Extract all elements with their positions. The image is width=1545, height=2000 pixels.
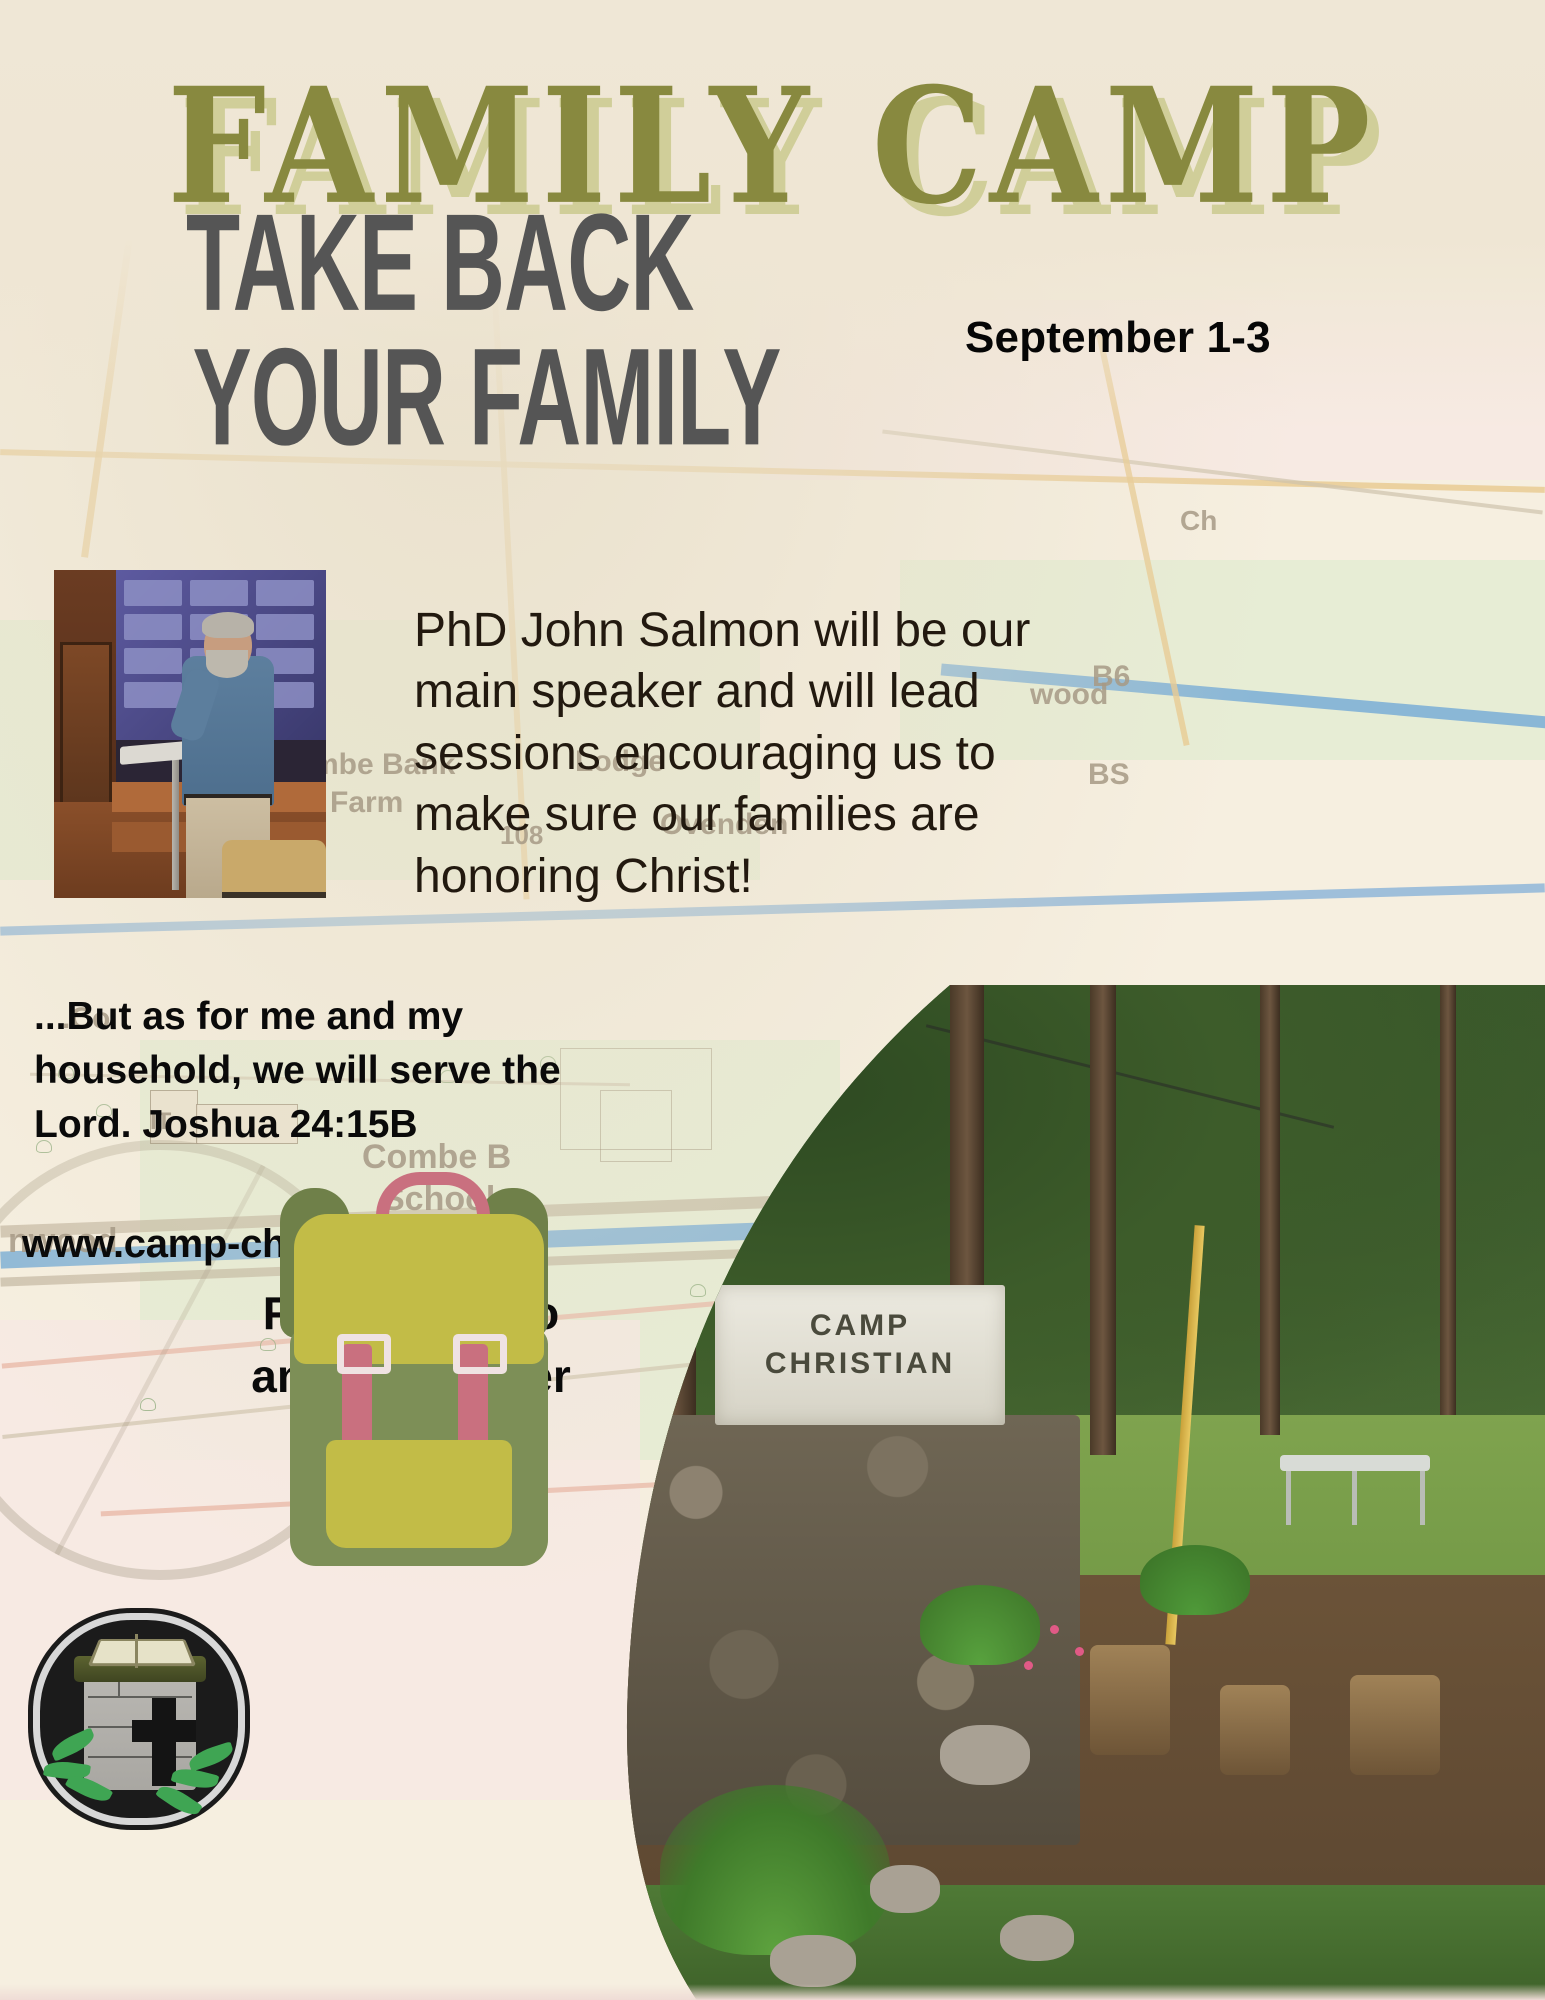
poster-headline: TAKE BACK YOUR FAMILY — [186, 196, 908, 464]
camp-sign-plaque: CAMP CHRISTIAN — [715, 1285, 1005, 1425]
camp-sign-text: CAMP CHRISTIAN — [715, 1307, 1005, 1384]
map-label: Farm — [330, 786, 403, 820]
camp-sign-line-2: CHRISTIAN — [715, 1345, 1005, 1383]
backpack-front-pocket — [326, 1440, 512, 1548]
picnic-shelter-icon — [1280, 1455, 1430, 1525]
map-label: Ch — [1180, 505, 1217, 537]
speaker-photo — [54, 570, 326, 898]
camp-sign-line-1: CAMP — [715, 1307, 1005, 1345]
ornamental-grass — [660, 1785, 890, 1955]
backpack-clip-right — [453, 1334, 507, 1374]
backpack-clip-left — [337, 1334, 391, 1374]
body-paragraph: PhD John Salmon will be our main speaker… — [414, 600, 1114, 907]
page-bottom-edge — [0, 1984, 1545, 2000]
backpack-illustration — [268, 1178, 568, 1578]
open-bible-icon — [88, 1639, 197, 1666]
headline-line-2: YOUR FAMILY — [193, 330, 908, 464]
headline-line-1: TAKE BACK — [186, 184, 694, 339]
camp-logo-badge — [40, 1620, 238, 1818]
cross-icon-bar — [132, 1720, 196, 1742]
event-dates: September 1-3 — [965, 313, 1271, 363]
scripture-verse: ...But as for me and my household, we wi… — [34, 990, 634, 1151]
flyer-poster: Combe Bank Farm Lodge Ovenden B6 BS Ch C… — [0, 0, 1545, 2000]
